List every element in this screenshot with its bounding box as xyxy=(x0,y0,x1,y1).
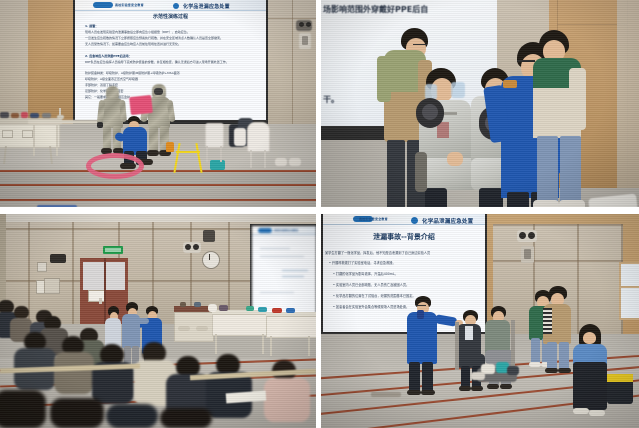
slide-brand-right: 化学品泄漏应急处置 xyxy=(183,3,230,10)
slide-line: • 如患者会在实验室外会集合等候现场人员进场处置。 xyxy=(333,304,483,309)
spill-containment-boom xyxy=(86,153,144,179)
slide-title: 泄漏事故--背景介绍 xyxy=(323,232,485,242)
slide-line: 无人员受伤情况下，如需要由应急响应人员前往现场处置并进行无害化。 xyxy=(85,42,259,46)
wall-clock xyxy=(202,251,220,269)
slide-line: 一旦发生应急疏散的情况下立即按照应急预案执行疏散，并在安全区域清点人数确认人员是… xyxy=(85,36,259,40)
slide-line: 现场人员在发现实验室内泄漏事故后立即向应急小组报警（RRT），启动应急。 xyxy=(85,30,259,34)
slide-line: • 实验室内人员已全部疏散，无人员伤亡及被困人员。 xyxy=(333,282,483,287)
equipment-case xyxy=(210,160,225,170)
slide-line: • 化学品打翻的位置在了试验台，泄漏的范围基本已固定。 xyxy=(333,293,483,298)
slide-brand-left: 高校实验室安全教育 xyxy=(115,3,144,7)
slide-line: 2. 应急响应人员穿戴PPE后进场： xyxy=(85,54,132,58)
slide-logo-icon xyxy=(173,3,179,9)
projected-text-line: 场影响范围外穿戴好PPE后自 xyxy=(323,4,428,15)
slide-brand-left: 高校实验室安全教育 xyxy=(359,217,388,221)
slide-line: • 打翻的化学品为剧毒液体，升温后400mL。 xyxy=(333,271,483,276)
wall-control-box xyxy=(37,262,47,272)
pink-absorbent-pad xyxy=(129,95,153,115)
wall-speaker xyxy=(50,254,66,263)
slide-line: 某学生打翻了一瓶化学品，挥发后，他不知是否泄漏到了自己身边实验人员 xyxy=(325,250,483,255)
photo-collage: 高校实验室安全教育 化学品泄漏应急处置 示范性演练过程 1. 报警： 现场人员在… xyxy=(0,0,639,428)
photo-panel-top-right: 场影响范围外穿戴好PPE后自 干。 xyxy=(321,0,639,207)
slide-line: • 开展呼救拨打了实验室电话，寻求应急救援。 xyxy=(329,260,483,265)
projected-text-line: 干。 xyxy=(323,94,339,105)
slide-brand-left: 高校实验室安全教育 xyxy=(274,228,298,232)
photo-panel-top-left: 高校实验室安全教育 化学品泄漏应急处置 示范性演练过程 1. 报警： 现场人员在… xyxy=(0,0,316,207)
photo-panel-bottom-right: 高校实验室安全教育 化学品泄漏应急处置 泄漏事故--背景介绍 某学生打翻了一瓶化… xyxy=(321,214,639,428)
hall-window xyxy=(619,262,639,320)
slide-logo-icon xyxy=(411,217,418,224)
slide-bottom-right: 高校实验室安全教育 化学品泄漏应急处置 泄漏事故--背景介绍 某学生打翻了一瓶化… xyxy=(323,214,485,332)
slide-line: 呼吸防护：A级全面罩正压式空气呼吸器 xyxy=(85,77,138,81)
photo-panel-bottom-left: 高校实验室安全教育 xyxy=(0,214,316,428)
slide-line: 1. 报警： xyxy=(85,24,98,28)
slide-line: 防护装备种类：呼吸防护、A级防护服/B级防护服+呼吸防护+MSA面罩 xyxy=(85,71,259,75)
slide-brand-right: 化学品泄漏应急处置 xyxy=(422,217,473,225)
slide-line: RRT队员在应急指挥人员指导下完成防护装备的穿戴，并互相检查，确认无误后方可进入… xyxy=(85,60,259,64)
slide-title: 示范性演练过程 xyxy=(75,13,266,20)
